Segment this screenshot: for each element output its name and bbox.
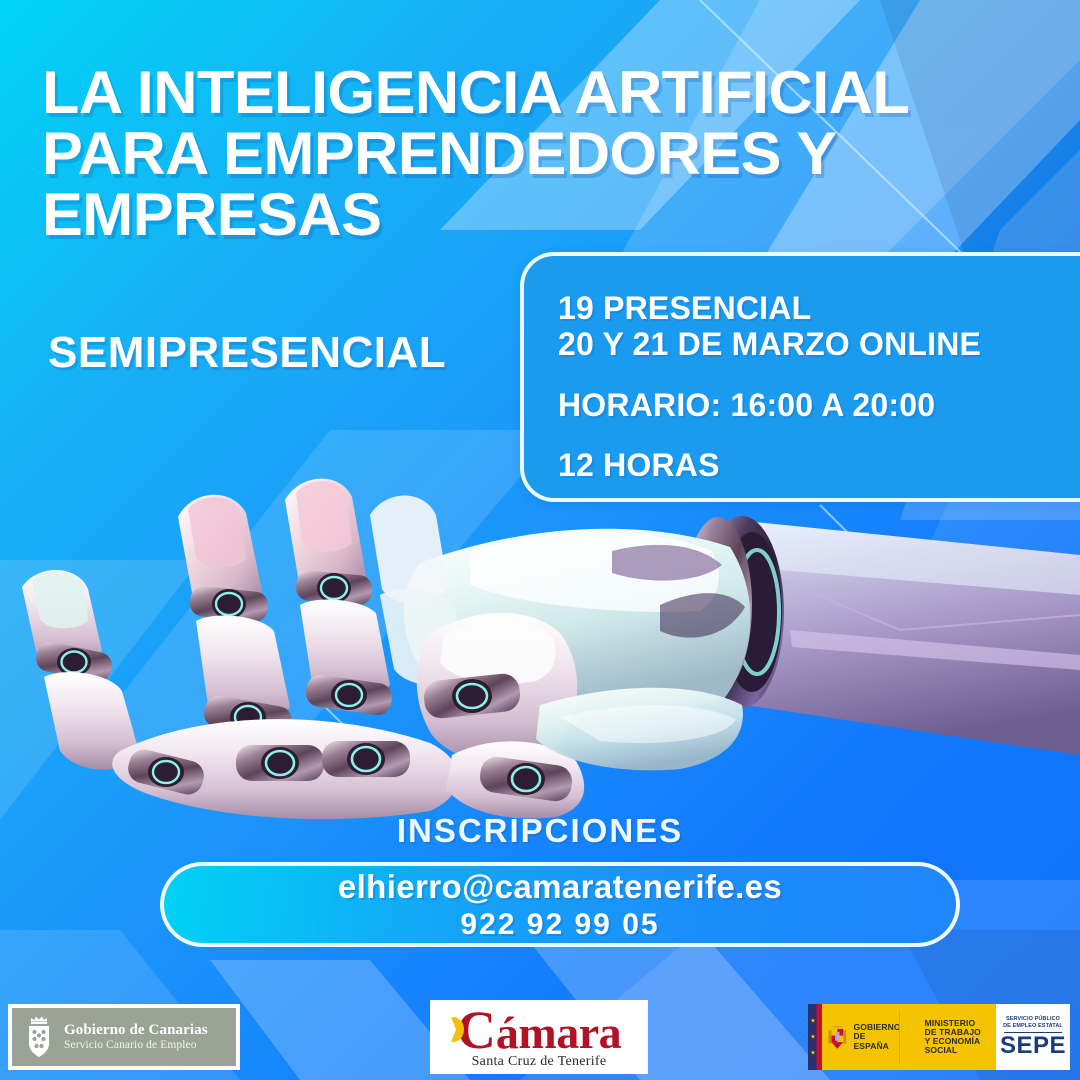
camara-wordmark: C ámara Santa Cruz de Tenerife: [457, 1005, 621, 1068]
min-line3: Y ECONOMÍA SOCIAL: [925, 1037, 991, 1055]
gc-line2: Servicio Canario de Empleo: [64, 1039, 208, 1051]
camara-word: ámara: [496, 1011, 621, 1055]
vertical-divider: [899, 1011, 900, 1063]
registration-heading: INSCRIPCIONES: [0, 812, 1080, 850]
logo-camara-tenerife: C ámara Santa Cruz de Tenerife: [430, 1000, 648, 1074]
ministerio-text: MINISTERIO DE TRABAJO Y ECONOMÍA SOCIAL: [925, 1019, 991, 1056]
spacer: [558, 363, 1080, 387]
poster-title: LA INTELIGENCIA ARTIFICIAL PARA EMPRENDE…: [42, 62, 1062, 246]
gobierno-espana-text: GOBIERNO DE ESPAÑA: [854, 1023, 901, 1051]
gc-line1: Gobierno de Canarias: [64, 1023, 208, 1039]
contact-email[interactable]: elhierro@camaratenerife.es: [338, 868, 782, 906]
crescent-icon: [443, 1017, 464, 1042]
modality-label: SEMIPRESENCIAL: [48, 328, 446, 378]
footer-logo-bar: Gobierno de Canarias Servicio Canario de…: [0, 994, 1080, 1080]
gc-plate: Gobierno de Canarias Servicio Canario de…: [12, 1008, 236, 1066]
promotional-poster: LA INTELIGENCIA ARTIFICIAL PARA EMPRENDE…: [0, 0, 1080, 1080]
logo-gobierno-espana-sepe: GOBIERNO DE ESPAÑA MINISTERIO DE TRABAJO…: [808, 1004, 1070, 1070]
sepe-panel: SERVICIO PÚBLICO DE EMPLEO ESTATAL SEPE: [996, 1004, 1070, 1070]
contact-phone[interactable]: 922 92 99 05: [460, 908, 659, 942]
sepe-line2: DE EMPLEO ESTATAL: [1003, 1023, 1063, 1029]
star-icon: [811, 1018, 816, 1023]
camara-main-line: C ámara: [457, 1005, 621, 1056]
spain-coat-of-arms-icon: [827, 1019, 848, 1055]
es-yellow-panel: GOBIERNO DE ESPAÑA MINISTERIO DE TRABAJO…: [822, 1004, 996, 1070]
star-icon: [811, 1050, 816, 1055]
canarias-shield-icon: [22, 1014, 56, 1060]
course-schedule: HORARIO: 16:00 A 20:00: [558, 387, 1080, 423]
sepe-acronym: SEPE: [1000, 1034, 1066, 1058]
spain-flag-bar: [808, 1004, 822, 1070]
contact-pill[interactable]: elhierro@camaratenerife.es 922 92 99 05: [160, 862, 960, 947]
robotic-hand-illustration: [0, 455, 1080, 825]
course-dates: 19 PRESENCIAL 20 Y 21 DE MARZO ONLINE: [558, 290, 1080, 363]
gob-line2: DE ESPAÑA: [854, 1032, 901, 1050]
star-icon: [811, 1034, 816, 1039]
spacer: [558, 423, 1080, 447]
gc-text-block: Gobierno de Canarias Servicio Canario de…: [64, 1023, 208, 1051]
logo-gobierno-de-canarias: Gobierno de Canarias Servicio Canario de…: [8, 1004, 240, 1070]
